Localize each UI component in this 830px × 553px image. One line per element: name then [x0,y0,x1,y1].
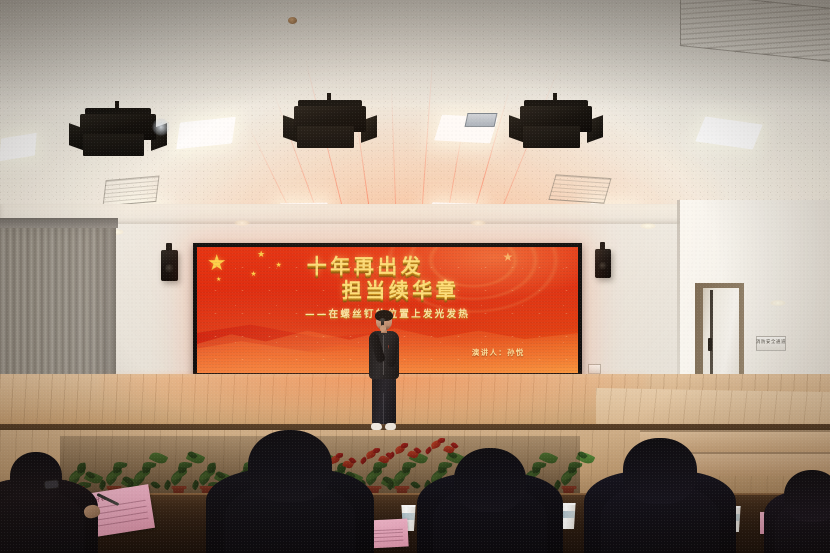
curtain-rail [0,218,118,228]
potted-plant-11 [385,446,419,500]
judge-center-right [417,448,563,553]
spotlight-lower-flap [297,126,355,148]
microphone-head [380,318,385,322]
ceiling-access-plate [465,113,498,127]
audience-head [784,470,830,522]
audience-head [248,430,332,502]
judge-left-writing [0,452,98,553]
speaker-mount-bracket [600,242,605,250]
presenter-hand [380,325,386,332]
recessed-downlight-3 [234,220,250,226]
wall-speaker-right [595,249,611,278]
audience-head [623,438,697,504]
red-flower [437,438,444,443]
conference-hall-photo: 消防安全通道 ★ ★ ★ ★ ★ ★ 十年再出发 担当续华章 ——在螺丝钉的位置… [0,0,830,553]
exit-sign-text: 消防安全通道 [756,341,786,345]
recessed-downlight-6 [770,300,786,306]
ceiling-air-vent-1 [102,175,159,206]
wall-speaker-left [161,250,178,281]
stage-spotlight-right [520,100,592,152]
eyeglasses-icon [44,479,60,490]
audience-head [454,448,526,512]
speaker-cone [599,262,608,271]
recessed-downlight-4 [470,220,486,226]
speaker-cone [165,264,175,273]
presenter-shoe-right [385,423,396,430]
judge-far-right [764,470,830,553]
audience-head [10,452,62,502]
spotlight-lower-flap [523,126,581,148]
judge-center-left [206,430,374,553]
wall-outlet-2 [588,364,601,374]
stage-spotlight-center [294,100,366,152]
presenter-shoe-left [371,423,382,430]
stage-spotlight-left [80,108,156,160]
red-flower [387,451,396,459]
presenter-leg-split [383,393,384,425]
plant-leaf [150,480,161,491]
exit-sign: 消防安全通道 [756,336,786,351]
red-flower [401,443,408,448]
door-handle[interactable] [708,338,712,351]
step-edge-1 [640,430,830,432]
judge-right [584,438,736,553]
speaker-mount-bracket [166,243,171,251]
spotlight-glare [152,118,170,136]
ceiling-air-vent-2 [548,174,611,203]
smoke-detector-icon [288,17,297,24]
recessed-downlight-5 [640,223,656,229]
spotlight-lower-flap [83,134,144,156]
presenter-speaker [363,311,405,435]
